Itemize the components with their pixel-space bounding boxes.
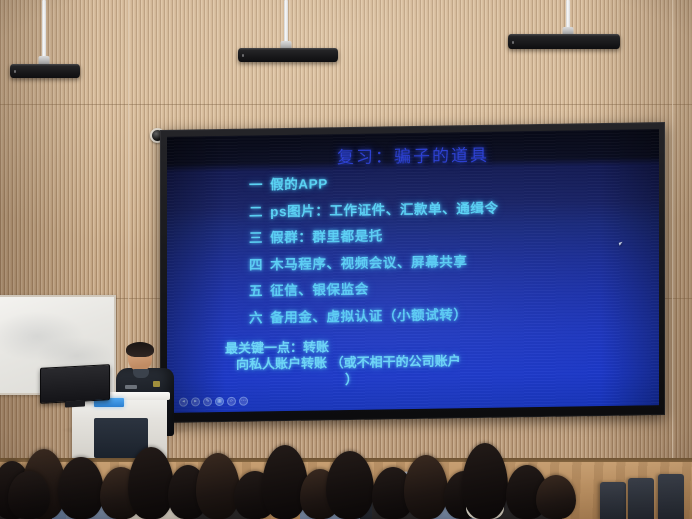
presenter-badge-icon: [153, 381, 160, 387]
ceiling-speaker: [10, 0, 80, 82]
speaker-body: [508, 34, 620, 49]
ceiling-speaker: [508, 0, 620, 62]
ceiling-speaker: [238, 0, 338, 70]
slide-list-item: 一假的APP: [249, 172, 659, 192]
item-number: 四: [249, 257, 263, 272]
projection-screen: 复习：骗子的道具 一假的APP 二ps图片：工作证件、汇款单、通缉令 三假群：群…: [167, 129, 659, 413]
pen-tool-icon[interactable]: ✎: [203, 397, 212, 406]
projection-screen-frame: 复习：骗子的道具 一假的APP 二ps图片：工作证件、汇款单、通缉令 三假群：群…: [160, 122, 665, 423]
item-text: 假群：群里都是托: [270, 228, 383, 245]
slide-list-item: 二ps图片：工作证件、汇款单、通缉令: [249, 199, 659, 219]
slide-footer: 最关键一点：转账 向私人账户转账 （或不相干的公司账户 ）: [167, 334, 659, 390]
audience-head: [128, 447, 174, 519]
audience-head: [462, 443, 508, 519]
slide-list-item: 四木马程序、视频会议、屏幕共享: [249, 252, 659, 272]
slide-body-list: 一假的APP 二ps图片：工作证件、汇款单、通缉令 三假群：群里都是托 四木马程…: [167, 172, 659, 326]
audience-head: [404, 455, 448, 519]
slide-grid-icon[interactable]: ▦: [215, 397, 224, 406]
item-number: 六: [249, 310, 263, 325]
lecture-hall-photo: 复习：骗子的道具 一假的APP 二ps图片：工作证件、汇款单、通缉令 三假群：群…: [0, 0, 692, 519]
item-text: 假的APP: [270, 176, 328, 192]
audience-head: [58, 457, 104, 519]
audience-head: [326, 451, 374, 519]
speaker-body: [10, 64, 80, 78]
item-text: 备用金、虚拟认证（小额试转）: [270, 307, 467, 325]
more-options-icon[interactable]: ⋯: [239, 397, 248, 406]
wall-seam-vertical: [672, 0, 673, 470]
item-text: ps图片：工作证件、汇款单、通缉令: [270, 200, 498, 219]
slide-list-item: 六备用金、虚拟认证（小额试转）: [249, 305, 659, 325]
item-text: 木马程序、视频会议、屏幕共享: [270, 254, 467, 272]
podium-monitor: [40, 364, 110, 404]
audience-head: [536, 475, 576, 519]
audience-head: [196, 453, 240, 519]
item-number: 一: [249, 177, 263, 192]
presenter-collar: [133, 369, 149, 378]
slide-list-item: 五征信、银保监会: [249, 278, 659, 298]
wall-seam-horizontal: [0, 104, 692, 105]
zoom-icon[interactable]: ⌕: [227, 397, 236, 406]
speaker-pole: [42, 0, 46, 62]
item-text: 征信、银保监会: [270, 282, 369, 299]
audience-head: [8, 471, 50, 519]
presenter-name-tag: [125, 385, 137, 389]
presenter-hair: [126, 342, 154, 357]
next-slide-icon[interactable]: ▸: [191, 397, 200, 406]
audience: [0, 423, 692, 519]
slide-title: 复习：骗子的道具: [167, 138, 659, 171]
item-number: 二: [249, 204, 263, 219]
speaker-body: [238, 48, 338, 62]
item-number: 三: [249, 230, 263, 245]
presentation-control-bar[interactable]: ◂ ▸ ✎ ▦ ⌕ ⋯: [179, 397, 248, 407]
item-number: 五: [249, 283, 263, 298]
presentation-slide: 复习：骗子的道具 一假的APP 二ps图片：工作证件、汇款单、通缉令 三假群：群…: [167, 129, 659, 413]
speaker-pole: [284, 0, 288, 46]
slide-list-item: 三假群：群里都是托: [249, 225, 659, 245]
prev-slide-icon[interactable]: ◂: [179, 398, 188, 407]
